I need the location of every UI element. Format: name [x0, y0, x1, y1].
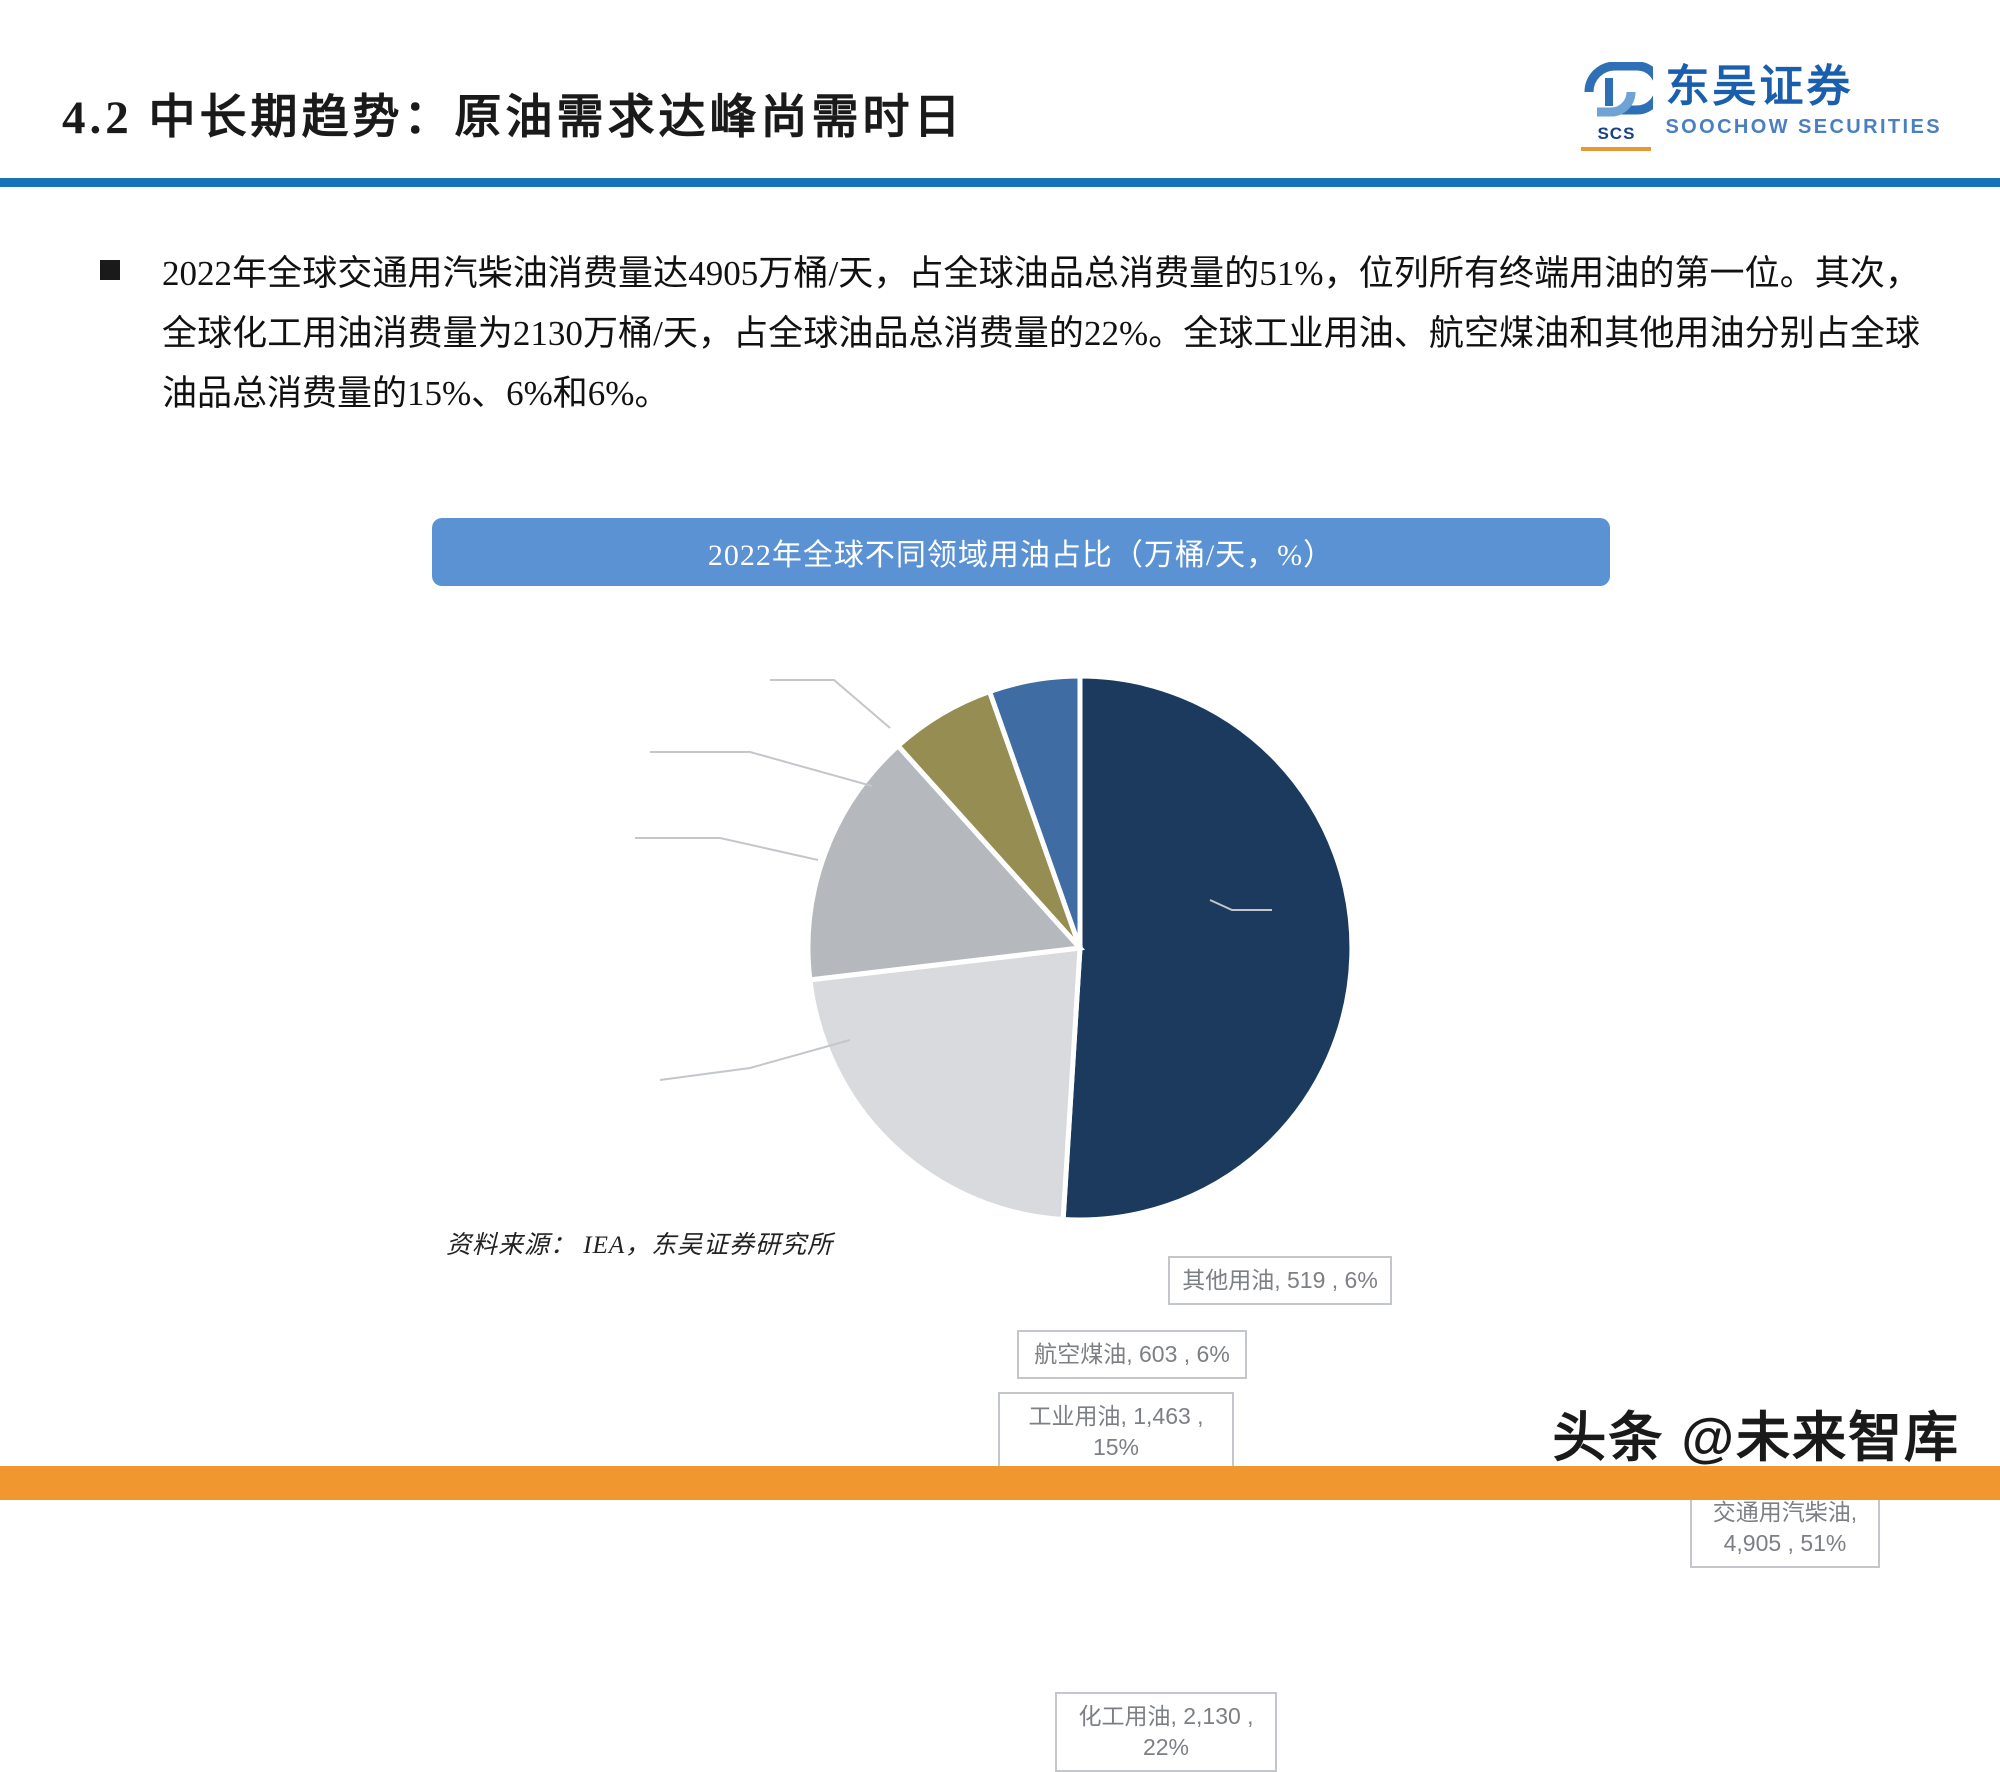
scs-monogram-label: SCS — [1597, 124, 1635, 144]
pie-label-chemical: 化工用油, 2,130 , 22% — [1055, 1692, 1277, 1772]
header-divider-line — [0, 178, 2000, 187]
chart-title-banner: 2022年全球不同领域用油占比（万桶/天，%） — [432, 518, 1610, 586]
logo-accent-underline — [1581, 147, 1651, 151]
pie-label-other: 其他用油, 519 , 6% — [1168, 1256, 1392, 1305]
pie-slices — [808, 676, 1352, 1220]
watermark-label: 头条 @未来智库 — [1552, 1393, 1960, 1472]
bullet-square-icon — [100, 260, 120, 280]
slide-header: 4.2 中长期趋势：原油需求达峰尚需时日 SCS 东吴证券 SOOCHOW SE… — [0, 0, 2000, 186]
pie-chart-graphic — [800, 668, 1360, 1228]
page-title: 4.2 中长期趋势：原油需求达峰尚需时日 — [62, 78, 965, 147]
pie-slice — [1063, 676, 1352, 1220]
scs-logo-icon: SCS — [1579, 62, 1653, 151]
logo-name-en: SOOCHOW SECURITIES — [1665, 116, 1942, 139]
chart-title-text: 2022年全球不同领域用油占比（万桶/天，%） — [708, 530, 1334, 574]
logo-name-cn: 东吴证券 — [1665, 64, 1942, 110]
logo-text-block: 东吴证券 SOOCHOW SECURITIES — [1665, 62, 1942, 139]
pie-chart-area: 其他用油, 519 , 6% 航空煤油, 603 , 6% 工业用油, 1,46… — [420, 610, 1600, 1210]
pie-label-aviation: 航空煤油, 603 , 6% — [1017, 1330, 1247, 1379]
brand-logo: SCS 东吴证券 SOOCHOW SECURITIES — [1579, 62, 1942, 151]
pie-slice — [810, 948, 1080, 1219]
chart-source-note: 资料来源： IEA，东吴证券研究所 — [446, 1225, 833, 1261]
pie-svg — [800, 668, 1360, 1228]
soochow-swirl-icon — [1579, 62, 1653, 122]
pie-label-industry: 工业用油, 1,463 , 15% — [998, 1392, 1234, 1472]
bullet-paragraph: 2022年全球交通用汽柴油消费量达4905万桶/天，占全球油品总消费量的51%，… — [162, 244, 1920, 425]
body-bullet-block: 2022年全球交通用汽柴油消费量达4905万桶/天，占全球油品总消费量的51%，… — [100, 244, 1920, 425]
